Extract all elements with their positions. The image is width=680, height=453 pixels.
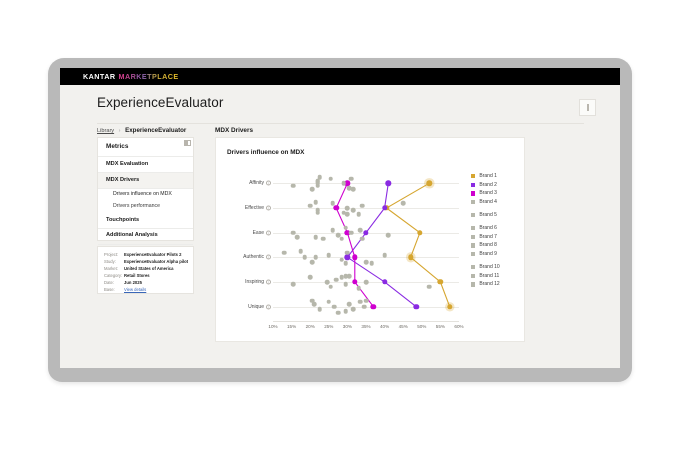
chart-data-point[interactable] — [341, 211, 346, 216]
chart-data-point[interactable] — [317, 307, 322, 312]
chart-data-point[interactable] — [302, 255, 307, 260]
chart-y-label: Unique — [248, 304, 264, 310]
chart-data-point[interactable] — [356, 212, 361, 217]
chart-data-point[interactable] — [349, 230, 354, 235]
chart-data-point[interactable] — [349, 176, 354, 181]
chart-gridline — [273, 208, 459, 209]
chart-data-point[interactable] — [327, 300, 332, 305]
screenshot-stage: KANTAR MARKETPLACE ExperienceEvaluator L… — [0, 0, 680, 453]
sidebar-item-mdx-evaluation[interactable]: MDX Evaluation — [98, 157, 193, 173]
chart-data-point[interactable] — [315, 179, 320, 184]
chart-x-tick: 40% — [380, 324, 389, 329]
chart-data-point[interactable] — [340, 257, 345, 262]
chart-data-point[interactable] — [282, 250, 287, 255]
chart-data-point[interactable] — [356, 286, 361, 291]
chart-plot-area: AffinityiEffectiveiEaseiAuthenticiInspir… — [273, 171, 459, 319]
chart-y-label: Effective — [245, 205, 264, 211]
page-title: ExperienceEvaluator — [97, 95, 223, 110]
chart-card: Drivers influence on MDX AffinityiEffect… — [215, 137, 525, 342]
chart-data-point[interactable] — [343, 261, 348, 266]
info-icon[interactable]: i — [266, 181, 271, 186]
header-divider — [97, 123, 584, 124]
legend-swatch — [471, 213, 475, 217]
legend-swatch — [471, 274, 475, 278]
legend-label: Brand 10 — [479, 264, 499, 270]
chart-data-point[interactable] — [358, 300, 363, 305]
legend-swatch — [471, 200, 475, 204]
legend-item[interactable]: Brand 4 — [471, 198, 500, 207]
legend-label: Brand 7 — [479, 234, 497, 240]
chart-data-point[interactable] — [360, 203, 365, 208]
chart-data-point[interactable] — [386, 233, 391, 238]
chart-x-tick: 20% — [306, 324, 315, 329]
legend-item[interactable]: Brand 11 — [471, 271, 500, 280]
info-icon[interactable]: i — [266, 206, 271, 211]
breadcrumb-separator: › — [119, 128, 121, 134]
chart-data-point[interactable] — [310, 260, 315, 265]
detail-row-study: Study: ExperienceEvaluator Alpha pilot — [104, 258, 193, 265]
sidebar-item-drivers-influence[interactable]: Drivers influence on MDX — [98, 189, 193, 201]
detail-value: Retail Stores — [124, 272, 150, 279]
legend-item[interactable]: Brand 7 — [471, 233, 500, 242]
chart-data-point[interactable] — [313, 200, 318, 205]
chart-x-tick: 60% — [454, 324, 463, 329]
chart-x-tick: 35% — [361, 324, 370, 329]
legend-item[interactable]: Brand 8 — [471, 241, 500, 250]
chart-series-line — [387, 183, 450, 306]
chart-y-label: Inspiring — [245, 279, 264, 285]
legend-swatch — [471, 282, 475, 286]
chart-data-point[interactable] — [299, 249, 304, 254]
info-icon[interactable]: i — [266, 230, 271, 235]
chart-x-tick: 55% — [436, 324, 445, 329]
chart-data-point[interactable] — [291, 183, 296, 188]
chart-data-point[interactable] — [347, 274, 352, 279]
legend-item[interactable]: Brand 2 — [471, 181, 500, 190]
marketplace-logo-text: MARKETPLACE — [119, 72, 179, 81]
chart-data-point[interactable] — [345, 206, 350, 211]
detail-value: ExperienceEvaluator Pilots 2 — [124, 251, 182, 258]
chart-title: Drivers influence on MDX — [227, 149, 304, 156]
chart-data-point[interactable] — [325, 280, 330, 285]
chart-data-point[interactable] — [330, 228, 335, 233]
legend-item[interactable]: Brand 3 — [471, 189, 500, 198]
chart-data-point[interactable] — [334, 277, 339, 282]
legend-swatch — [471, 226, 475, 230]
chart-data-point[interactable] — [360, 236, 365, 241]
info-icon[interactable]: i — [266, 304, 271, 309]
chart-data-point[interactable] — [336, 310, 341, 315]
legend-item[interactable]: Brand 9 — [471, 250, 500, 259]
breadcrumb: Library › ExperienceEvaluator — [97, 127, 186, 134]
detail-value: ExperienceEvaluator Alpha pilot — [124, 258, 188, 265]
detail-value: Jun 2025 — [124, 279, 142, 286]
chart-data-point[interactable] — [336, 233, 341, 238]
chart-data-point[interactable] — [291, 230, 296, 235]
detail-key: Project: — [104, 251, 124, 258]
chart-y-label: Authentic — [243, 254, 264, 260]
chart-series-line — [336, 183, 373, 306]
chart-data-point[interactable] — [291, 282, 296, 287]
chart-gridline — [273, 257, 459, 258]
legend-label: Brand 12 — [479, 281, 499, 287]
chart-y-label: Ease — [253, 230, 264, 236]
chart-x-tick: 45% — [399, 324, 408, 329]
chart-data-point[interactable] — [345, 250, 350, 255]
panel-heading: MDX Drivers — [215, 127, 253, 134]
chart-data-point[interactable] — [364, 280, 369, 285]
chart-data-point[interactable] — [369, 261, 374, 266]
user-avatar-button[interactable] — [579, 99, 596, 116]
detail-row-project: Project: ExperienceEvaluator Pilots 2 — [104, 251, 193, 258]
legend-label: Brand 9 — [479, 251, 497, 257]
kantar-brand-bar: KANTAR MARKETPLACE — [60, 68, 620, 85]
legend-label: Brand 4 — [479, 199, 497, 205]
legend-swatch — [471, 252, 475, 256]
legend-label: Brand 3 — [479, 190, 497, 196]
chart-data-point[interactable] — [332, 304, 337, 309]
legend-swatch — [471, 174, 475, 178]
chart-data-point[interactable] — [328, 176, 333, 181]
chart-data-point[interactable] — [401, 201, 406, 206]
legend-label: Brand 11 — [479, 273, 499, 279]
chart-data-point[interactable] — [364, 298, 369, 303]
detail-row-date: Date: Jun 2025 — [104, 279, 193, 286]
sidebar-item-touchpoints[interactable]: Touchpoints — [98, 213, 193, 229]
chart-x-tick: 15% — [287, 324, 296, 329]
legend-label: Brand 1 — [479, 173, 497, 179]
chart-data-point[interactable] — [364, 260, 369, 265]
detail-key: Date: — [104, 279, 124, 286]
chart-data-point[interactable] — [340, 275, 345, 280]
detail-key: Category: — [104, 272, 124, 279]
legend-label: Brand 2 — [479, 182, 497, 188]
chart-data-point[interactable] — [321, 236, 326, 241]
chart-x-tick: 30% — [343, 324, 352, 329]
chart-x-tick: 10% — [268, 324, 277, 329]
chart-data-point[interactable] — [341, 181, 346, 186]
chart-data-point[interactable] — [343, 282, 348, 287]
chart-data-point[interactable] — [351, 208, 356, 213]
legend-swatch — [471, 243, 475, 247]
breadcrumb-current: ExperienceEvaluator — [125, 127, 186, 134]
legend-swatch — [471, 265, 475, 269]
chart-x-tick: 25% — [324, 324, 333, 329]
kantar-logo-text: KANTAR — [83, 72, 116, 81]
chart-data-point[interactable] — [382, 253, 387, 258]
project-details-card: Project: ExperienceEvaluator Pilots 2 St… — [97, 246, 194, 294]
chart-data-point[interactable] — [295, 235, 300, 240]
legend-item[interactable]: Brand 1 — [471, 172, 500, 181]
metrics-sidebar: Metrics MDX Evaluation MDX Drivers Drive… — [97, 137, 194, 241]
chart-data-point[interactable] — [327, 253, 332, 258]
info-icon[interactable]: i — [266, 255, 271, 260]
chart-data-point[interactable] — [328, 285, 333, 290]
legend-label: Brand 6 — [479, 225, 497, 231]
info-icon[interactable]: i — [266, 280, 271, 285]
chart-data-point[interactable] — [427, 285, 432, 290]
legend-item[interactable]: Brand 6 — [471, 224, 500, 233]
chart-data-point[interactable] — [340, 236, 345, 241]
legend-label: Brand 8 — [479, 242, 497, 248]
sidebar-item-additional-analysis[interactable]: Additional Analysis — [98, 229, 193, 245]
legend-swatch — [471, 183, 475, 187]
legend-item[interactable]: Brand 5 — [471, 211, 500, 220]
chart-data-point[interactable] — [308, 203, 313, 208]
chart-data-point[interactable] — [308, 275, 313, 280]
sidebar-item-mdx-drivers[interactable]: MDX Drivers — [98, 173, 193, 189]
chart-data-point[interactable] — [313, 235, 318, 240]
detail-value: United States of America — [124, 265, 173, 272]
legend-swatch — [471, 235, 475, 239]
detail-row-base: Base: View details — [104, 286, 193, 293]
chart-data-point[interactable] — [312, 302, 317, 307]
legend-swatch — [471, 191, 475, 195]
chart-data-point[interactable] — [310, 187, 315, 192]
chart-data-point[interactable] — [347, 302, 352, 307]
detail-row-category: Category: Retail Stores — [104, 272, 193, 279]
chart-data-point[interactable] — [347, 186, 352, 191]
chart-data-point[interactable] — [351, 307, 356, 312]
breadcrumb-library-link[interactable]: Library — [97, 128, 114, 134]
detail-row-market: Market: United States of America — [104, 265, 193, 272]
collapse-panel-icon[interactable] — [184, 140, 191, 146]
detail-key: Market: — [104, 265, 124, 272]
user-avatar-icon — [587, 104, 589, 111]
chart-series-lines — [273, 171, 459, 319]
legend-item[interactable]: Brand 10 — [471, 263, 500, 272]
chart-data-point[interactable] — [315, 208, 320, 213]
chart-data-point[interactable] — [358, 228, 363, 233]
chart-data-point[interactable] — [343, 309, 348, 314]
chart-data-point[interactable] — [330, 201, 335, 206]
chart-data-point[interactable] — [343, 226, 348, 231]
sidebar-item-drivers-performance[interactable]: Drivers performance — [98, 201, 193, 213]
chart-data-point[interactable] — [362, 304, 367, 309]
chart-x-tick: 50% — [417, 324, 426, 329]
view-details-link[interactable]: View details — [124, 286, 146, 293]
detail-key: Base: — [104, 286, 124, 293]
chart-data-point[interactable] — [313, 255, 318, 260]
chart-y-label: Affinity — [249, 180, 264, 186]
sidebar-item-metrics: Metrics — [98, 138, 193, 157]
chart-x-axis — [273, 321, 459, 322]
chart-legend: Brand 1Brand 2Brand 3Brand 4Brand 5Brand… — [471, 172, 500, 289]
detail-key: Study: — [104, 258, 124, 265]
legend-item[interactable]: Brand 12 — [471, 280, 500, 289]
legend-label: Brand 5 — [479, 212, 497, 218]
browser-screen: KANTAR MARKETPLACE ExperienceEvaluator L… — [60, 68, 620, 368]
